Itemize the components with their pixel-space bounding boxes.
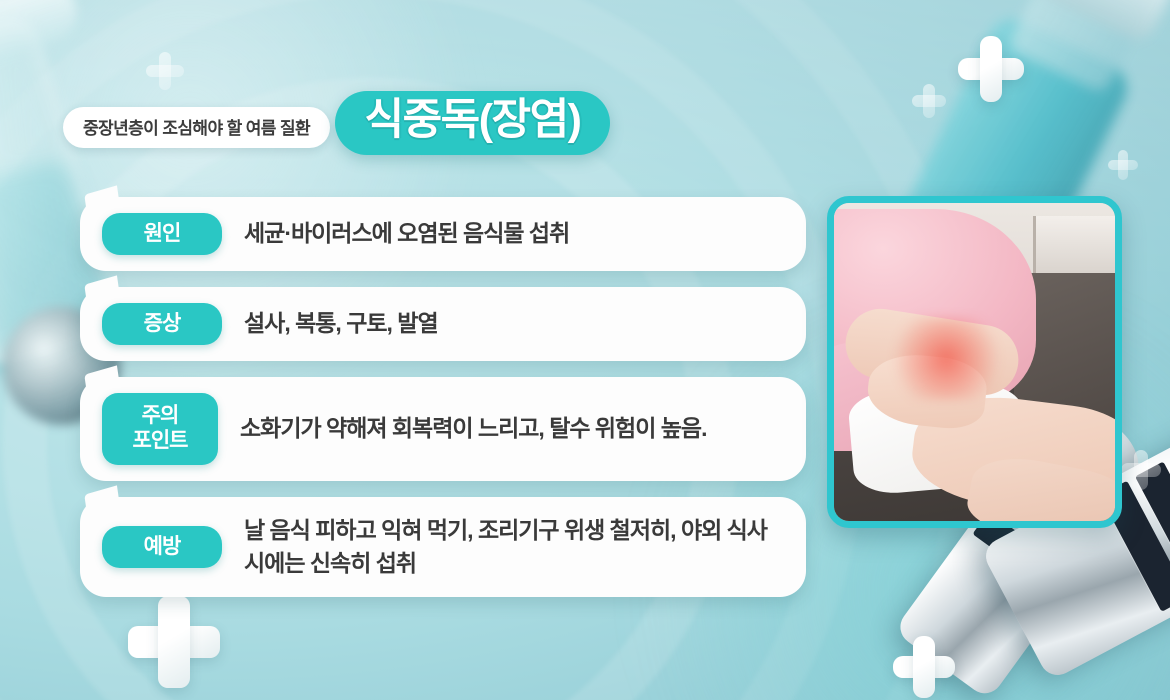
plus-icon [1121, 450, 1161, 490]
info-card-text: 세균·바이러스에 오염된 음식물 섭취 [244, 217, 569, 250]
photo-content [834, 203, 1115, 521]
kicker-label: 중장년층이 조심해야 할 여름 질환 [63, 107, 330, 148]
info-card-list: 원인 세균·바이러스에 오염된 음식물 섭취 증상 설사, 복통, 구토, 발열… [80, 197, 806, 613]
status-badge-line2: 포인트 [114, 429, 206, 454]
status-badge: 예방 [102, 526, 222, 569]
page-title: 식중독(장염) [335, 91, 611, 155]
status-badge: 주의 포인트 [102, 393, 218, 465]
infographic-poster: 중장년층이 조심해야 할 여름 질환 식중독(장염) 원인 세균·바이러스에 오… [0, 0, 1170, 700]
info-card-caution: 주의 포인트 소화기가 약해져 회복력이 느리고, 탈수 위험이 높음. [80, 377, 806, 481]
info-card-text: 소화기가 약해져 회복력이 느리고, 탈수 위험이 높음. [240, 412, 706, 445]
status-badge-line1: 주의 [114, 404, 206, 429]
poster-header: 중장년층이 조심해야 할 여름 질환 식중독(장염) [63, 82, 610, 155]
info-card-text: 날 음식 피하고 익혀 먹기, 조리기구 위생 철저히, 야외 식사 시에는 신… [244, 514, 784, 581]
plus-icon [1108, 150, 1138, 180]
illustration-photo [827, 196, 1122, 528]
info-card-prevention: 예방 날 음식 피하고 익혀 먹기, 조리기구 위생 철저히, 야외 식사 시에… [80, 497, 806, 597]
plus-icon [958, 36, 1024, 102]
info-card-cause: 원인 세균·바이러스에 오염된 음식물 섭취 [80, 197, 806, 271]
info-card-symptom: 증상 설사, 복통, 구토, 발열 [80, 287, 806, 361]
plus-icon [893, 636, 955, 698]
info-card-text: 설사, 복통, 구토, 발열 [244, 307, 438, 340]
page-title-text: 식중독(장염) [365, 99, 581, 142]
status-badge: 증상 [102, 303, 222, 346]
pain-highlight [879, 317, 1014, 400]
plus-icon [912, 84, 946, 118]
status-badge: 원인 [102, 213, 222, 256]
